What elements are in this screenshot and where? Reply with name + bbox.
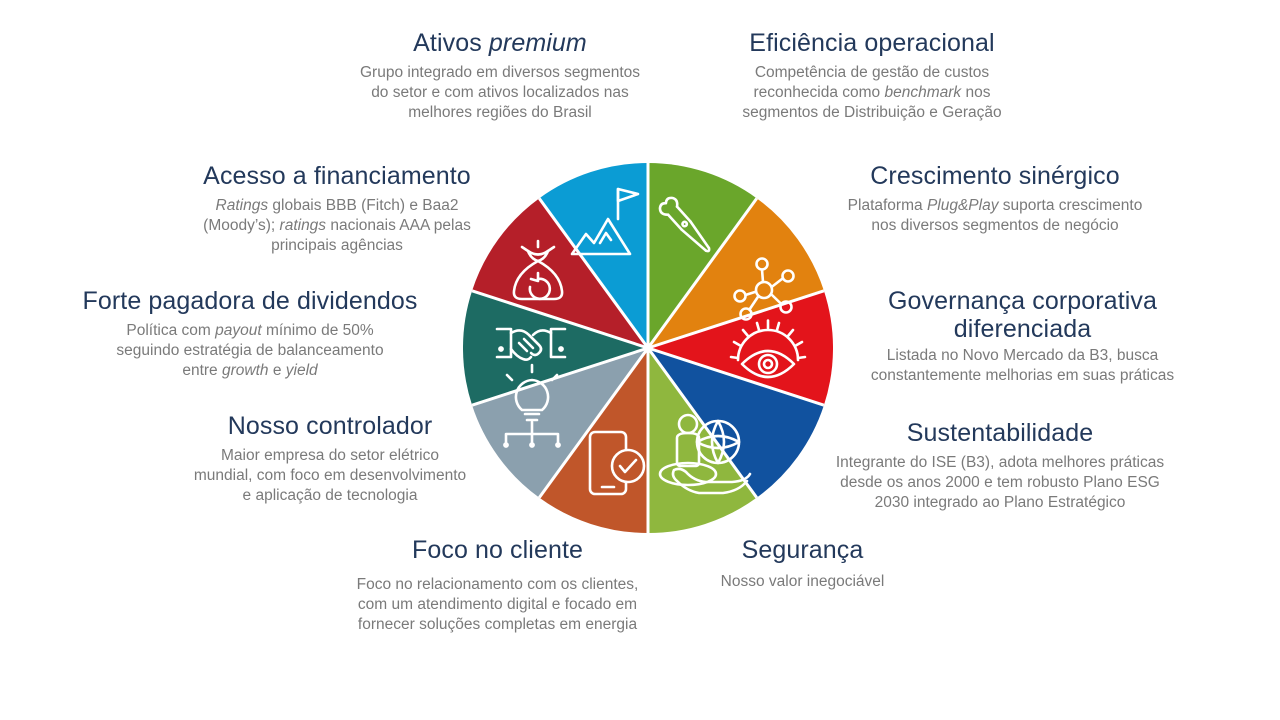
block-title: Eficiência operacional <box>700 30 1044 58</box>
block-description: Competência de gestão de custos reconhec… <box>700 63 1044 124</box>
value-wheel <box>463 163 833 533</box>
block-description: Ratings globais BBB (Fitch) e Baa2 (Mood… <box>162 196 512 257</box>
block-title: Sustentabilidade <box>785 420 1215 448</box>
block-nosso-controlador: Nosso controlador Maior empresa do setor… <box>150 413 510 507</box>
block-title: Acesso a financiamento <box>162 163 512 191</box>
block-description: Nosso valor inegociável <box>680 572 925 592</box>
block-eficiencia-operacional: Eficiência operacional Competência de ge… <box>700 30 1044 124</box>
block-title: Governança corporativa diferenciada <box>855 288 1190 343</box>
block-crescimento-sinergico: Crescimento sinérgico Plataforma Plug&Pl… <box>800 163 1190 236</box>
block-foco-no-cliente: Foco no cliente Foco no relacionamento c… <box>290 537 705 636</box>
block-description: Política com payout mínimo de 50% seguin… <box>55 321 445 382</box>
block-title: Foco no cliente <box>290 537 705 565</box>
block-governanca-corporativa-diferenciada: Governança corporativa diferenciada List… <box>855 288 1190 387</box>
block-description: Grupo integrado em diversos segmentos do… <box>318 63 682 124</box>
block-description: Foco no relacionamento com os clientes, … <box>290 575 705 636</box>
block-ativos-premium: Ativos premium Grupo integrado em divers… <box>318 30 682 124</box>
block-acesso-a-financiamento: Acesso a financiamento Ratings globais B… <box>162 163 512 257</box>
block-description: Listada no Novo Mercado da B3, busca con… <box>855 346 1190 387</box>
block-title: Segurança <box>680 537 925 565</box>
block-seguranca: Segurança Nosso valor inegociável <box>680 537 925 592</box>
infographic-wheel-slide: Ativos premium Grupo integrado em divers… <box>0 0 1280 720</box>
block-title: Ativos premium <box>318 30 682 58</box>
block-description: Maior empresa do setor elétrico mundial,… <box>150 446 510 507</box>
block-forte-pagadora-de-dividendos: Forte pagadora de dividendos Política co… <box>55 288 445 382</box>
block-sustentabilidade: Sustentabilidade Integrante do ISE (B3),… <box>785 420 1215 514</box>
block-description: Plataforma Plug&Play suporta crescimento… <box>800 196 1190 237</box>
block-title: Forte pagadora de dividendos <box>55 288 445 316</box>
block-title: Crescimento sinérgico <box>800 163 1190 191</box>
block-description: Integrante do ISE (B3), adota melhores p… <box>785 453 1215 514</box>
block-title: Nosso controlador <box>150 413 510 441</box>
